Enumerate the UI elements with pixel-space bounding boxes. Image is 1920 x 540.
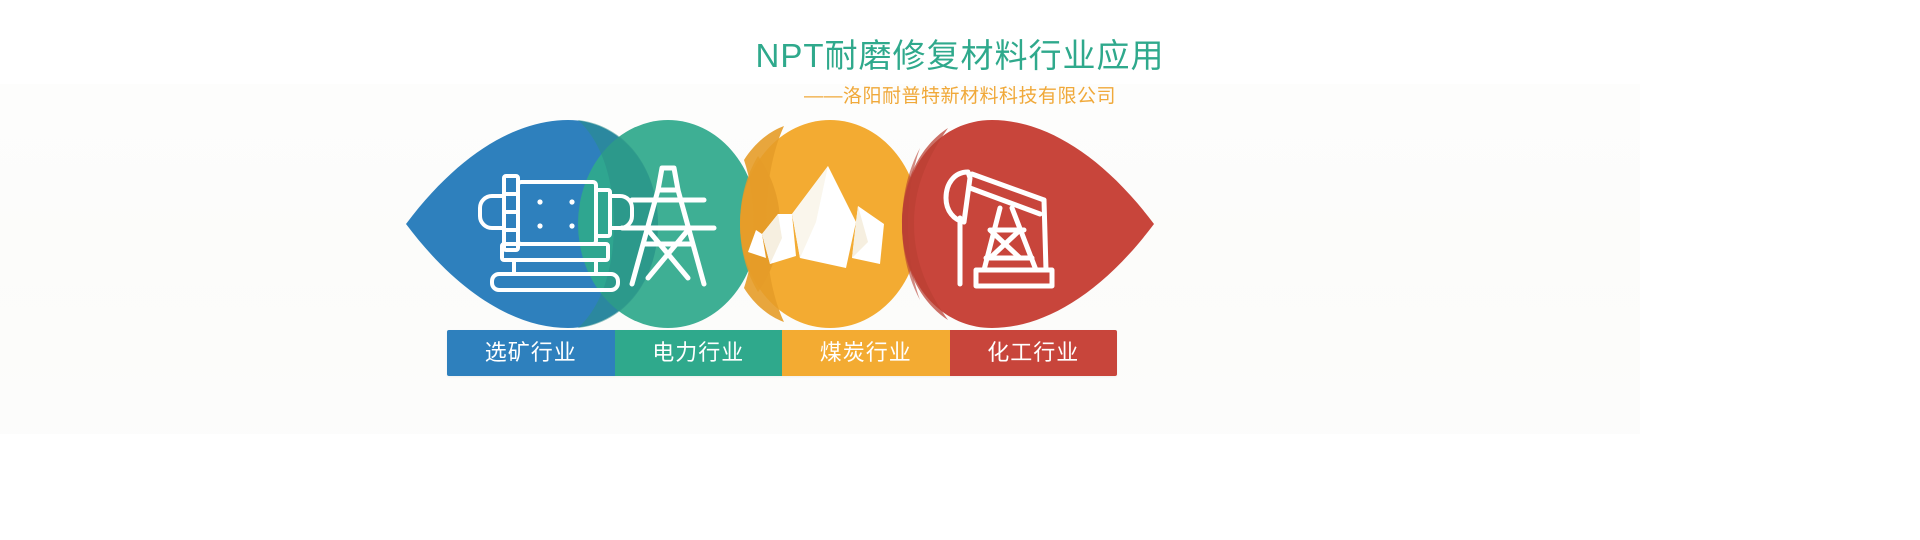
label-cell-mineral-processing[interactable]: 选矿行业: [447, 330, 615, 376]
label-cell-power[interactable]: 电力行业: [615, 330, 783, 376]
slide-canvas: NPT耐磨修复材料行业应用 ——洛阳耐普特新材料科技有限公司: [0, 0, 1920, 540]
industry-diagram: [400, 118, 1160, 330]
label-cell-coal[interactable]: 煤炭行业: [782, 330, 950, 376]
label-cell-chemical[interactable]: 化工行业: [950, 330, 1118, 376]
industry-label-bar: 选矿行业 电力行业 煤炭行业 化工行业: [447, 330, 1117, 376]
segment-shape-red[interactable]: [902, 120, 1154, 328]
page-title: NPT耐磨修复材料行业应用: [0, 34, 1920, 78]
